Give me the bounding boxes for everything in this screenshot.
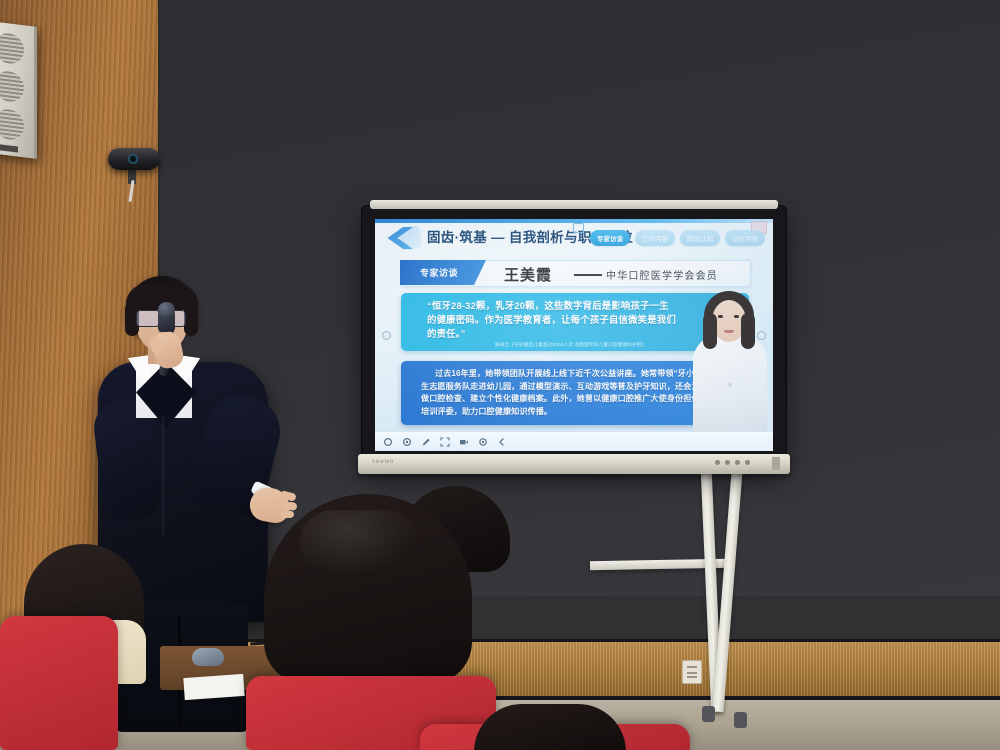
board-button[interactable] <box>725 460 730 465</box>
portrait-eye <box>734 315 739 318</box>
tab-role-awareness[interactable]: 岗位认知 <box>680 230 720 246</box>
portrait-coat-button <box>728 383 732 387</box>
board-brand-mark: seewo <box>372 459 394 465</box>
interactive-whiteboard[interactable]: 固齿·筑基 — 自我剖析与职业定位 专家访谈 工作内容 岗位认知 适应评估 专家… <box>362 206 786 468</box>
quote-source: 摘录自《守护龈齿儿童超过3000人次 点燃国专科儿童口腔健康防护网》 <box>495 342 647 348</box>
slide-nav-dot-right[interactable] <box>757 331 766 340</box>
settings-icon[interactable] <box>478 437 488 447</box>
expert-interview-badge: 专家访谈 <box>400 260 486 285</box>
board-bottom-bezel: seewo <box>358 454 790 474</box>
fullscreen-icon[interactable] <box>440 437 450 447</box>
vent-grille-icon <box>0 32 24 66</box>
presenter-finger <box>280 511 294 518</box>
tab-work-content[interactable]: 工作内容 <box>635 230 675 246</box>
unit-plate <box>0 144 18 153</box>
portrait-mouth <box>724 330 734 333</box>
camera-lens-icon <box>128 154 138 164</box>
tab-expert-interview[interactable]: 专家访谈 <box>590 230 630 246</box>
audience-head <box>474 704 626 750</box>
board-button[interactable] <box>735 460 740 465</box>
board-top-bezel <box>370 200 778 209</box>
expert-quote-text: “恒牙28-32颗，乳牙20颗，这些数字背后是影响孩子一生的健康密码。作为医学教… <box>427 299 677 341</box>
auditorium-chair <box>0 616 118 750</box>
board-button[interactable] <box>715 460 720 465</box>
whiteboard-toolbar[interactable] <box>375 431 773 451</box>
whiteboard-screen[interactable]: 固齿·筑基 — 自我剖析与职业定位 专家访谈 工作内容 岗位认知 适应评估 专家… <box>375 219 773 451</box>
presenter-hair-side <box>184 302 198 336</box>
record-icon[interactable] <box>383 437 393 447</box>
header-note-icon <box>573 223 584 233</box>
stand-caster <box>702 706 715 722</box>
microphone-head-icon <box>158 302 175 317</box>
board-usb-port <box>772 457 780 470</box>
tab-adaptation-review[interactable]: 适应评估 <box>725 230 765 246</box>
wall-ac-speaker-unit <box>0 21 37 159</box>
lecture-hall-photo: 固齿·筑基 — 自我剖析与职业定位 专家访谈 工作内容 岗位认知 适应评估 专家… <box>0 0 1000 750</box>
portrait-hair-side <box>703 313 717 349</box>
desk-paper <box>183 674 244 700</box>
slide-tabs[interactable]: 专家访谈 工作内容 岗位认知 适应评估 <box>590 230 765 246</box>
board-button[interactable] <box>745 460 750 465</box>
hair-highlight <box>300 510 420 576</box>
expert-name-bar: 专家访谈 王美霞 中华口腔医学学会会员 <box>401 260 751 287</box>
slide-header: 固齿·筑基 — 自我剖析与职业定位 专家访谈 工作内容 岗位认知 适应评估 <box>375 225 773 251</box>
portrait-hair-side <box>741 313 755 349</box>
chevron-left-icon[interactable] <box>497 437 507 447</box>
select-icon[interactable] <box>402 437 412 447</box>
expert-name: 王美霞 <box>504 264 552 285</box>
vent-grille-icon <box>0 108 24 142</box>
expert-portrait <box>693 291 767 443</box>
presentation-slide: 固齿·筑基 — 自我剖析与职业定位 专家访谈 工作内容 岗位认知 适应评估 专家… <box>375 219 773 451</box>
stand-caster <box>734 712 747 728</box>
expert-bio-text: 过去16年里，她带领团队开展线上线下近千次公益讲座。她常带领“牙小青”学生志愿服… <box>421 368 716 418</box>
power-outlet-icon <box>682 660 702 684</box>
pen-icon[interactable] <box>421 437 431 447</box>
video-icon[interactable] <box>459 437 469 447</box>
portrait-eye <box>718 315 723 318</box>
expert-organization: 中华口腔医学学会会员 <box>606 267 718 282</box>
security-camera-icon <box>108 148 160 170</box>
eyeglasses-icon <box>136 310 160 327</box>
slide-nav-dot-left[interactable] <box>382 331 391 340</box>
vent-grille-icon <box>0 70 24 104</box>
name-dash <box>574 274 602 276</box>
board-hardware-buttons[interactable] <box>715 460 750 465</box>
presenter-finger <box>282 501 298 511</box>
jacket-seam <box>162 416 164 536</box>
computer-mouse-icon <box>192 648 224 666</box>
